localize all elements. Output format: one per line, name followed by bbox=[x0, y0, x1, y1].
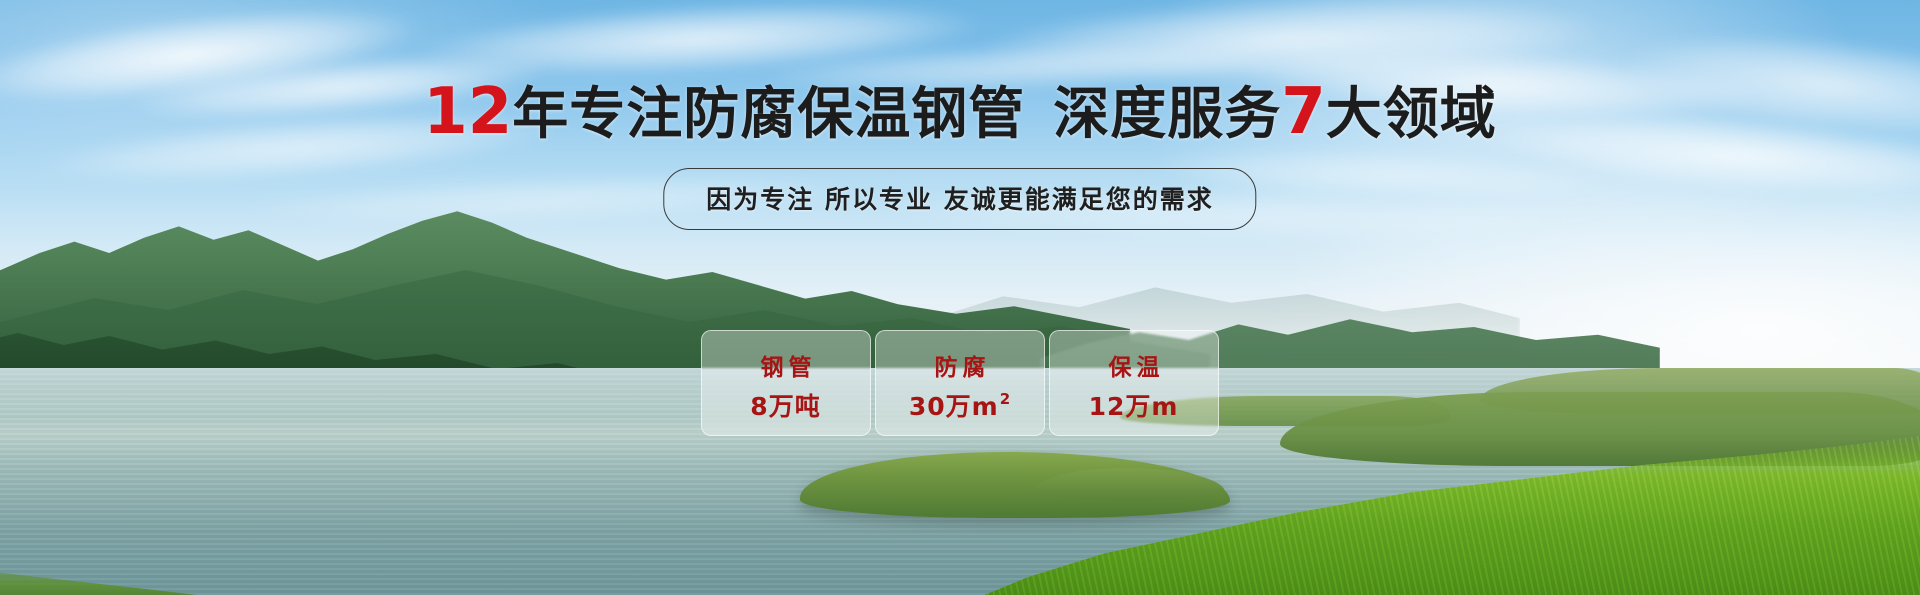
headline-segment-two: 深度服务 bbox=[1053, 82, 1281, 147]
headline-fields-number: 7 bbox=[1281, 75, 1326, 149]
stat-card-anticorrosion: 防腐 30万m2 bbox=[875, 330, 1045, 436]
stat-label: 防腐 bbox=[930, 348, 991, 382]
headline-segment-one: 年专注防腐保温钢管 bbox=[512, 82, 1025, 147]
stat-value-superscript: 2 bbox=[1000, 392, 1011, 407]
stat-card-group: 钢管 8万吨 防腐 30万m2 保温 12万m bbox=[701, 330, 1219, 436]
stat-value: 12万m bbox=[1089, 394, 1180, 419]
stat-value-text: 12万m bbox=[1089, 394, 1179, 419]
stat-card-steel-pipe: 钢管 8万吨 bbox=[701, 330, 871, 436]
stat-value-text: 8万吨 bbox=[750, 394, 820, 419]
stat-label: 保温 bbox=[1104, 348, 1165, 382]
headline-years-number: 12 bbox=[423, 75, 512, 149]
headline: 12年专注防腐保温钢管深度服务7大领域 bbox=[0, 80, 1920, 144]
banner-content: 12年专注防腐保温钢管深度服务7大领域 因为专注 所以专业 友诚更能满足您的需求… bbox=[0, 0, 1920, 595]
headline-segment-three: 大领域 bbox=[1326, 82, 1497, 147]
subtitle-pill: 因为专注 所以专业 友诚更能满足您的需求 bbox=[663, 168, 1256, 230]
stat-card-insulation: 保温 12万m bbox=[1049, 330, 1219, 436]
stat-label: 钢管 bbox=[756, 348, 817, 382]
stat-value: 8万吨 bbox=[750, 394, 821, 419]
hero-banner: 12年专注防腐保温钢管深度服务7大领域 因为专注 所以专业 友诚更能满足您的需求… bbox=[0, 0, 1920, 595]
stat-value: 30万m2 bbox=[909, 394, 1011, 419]
stat-value-text: 30万m bbox=[909, 394, 999, 419]
